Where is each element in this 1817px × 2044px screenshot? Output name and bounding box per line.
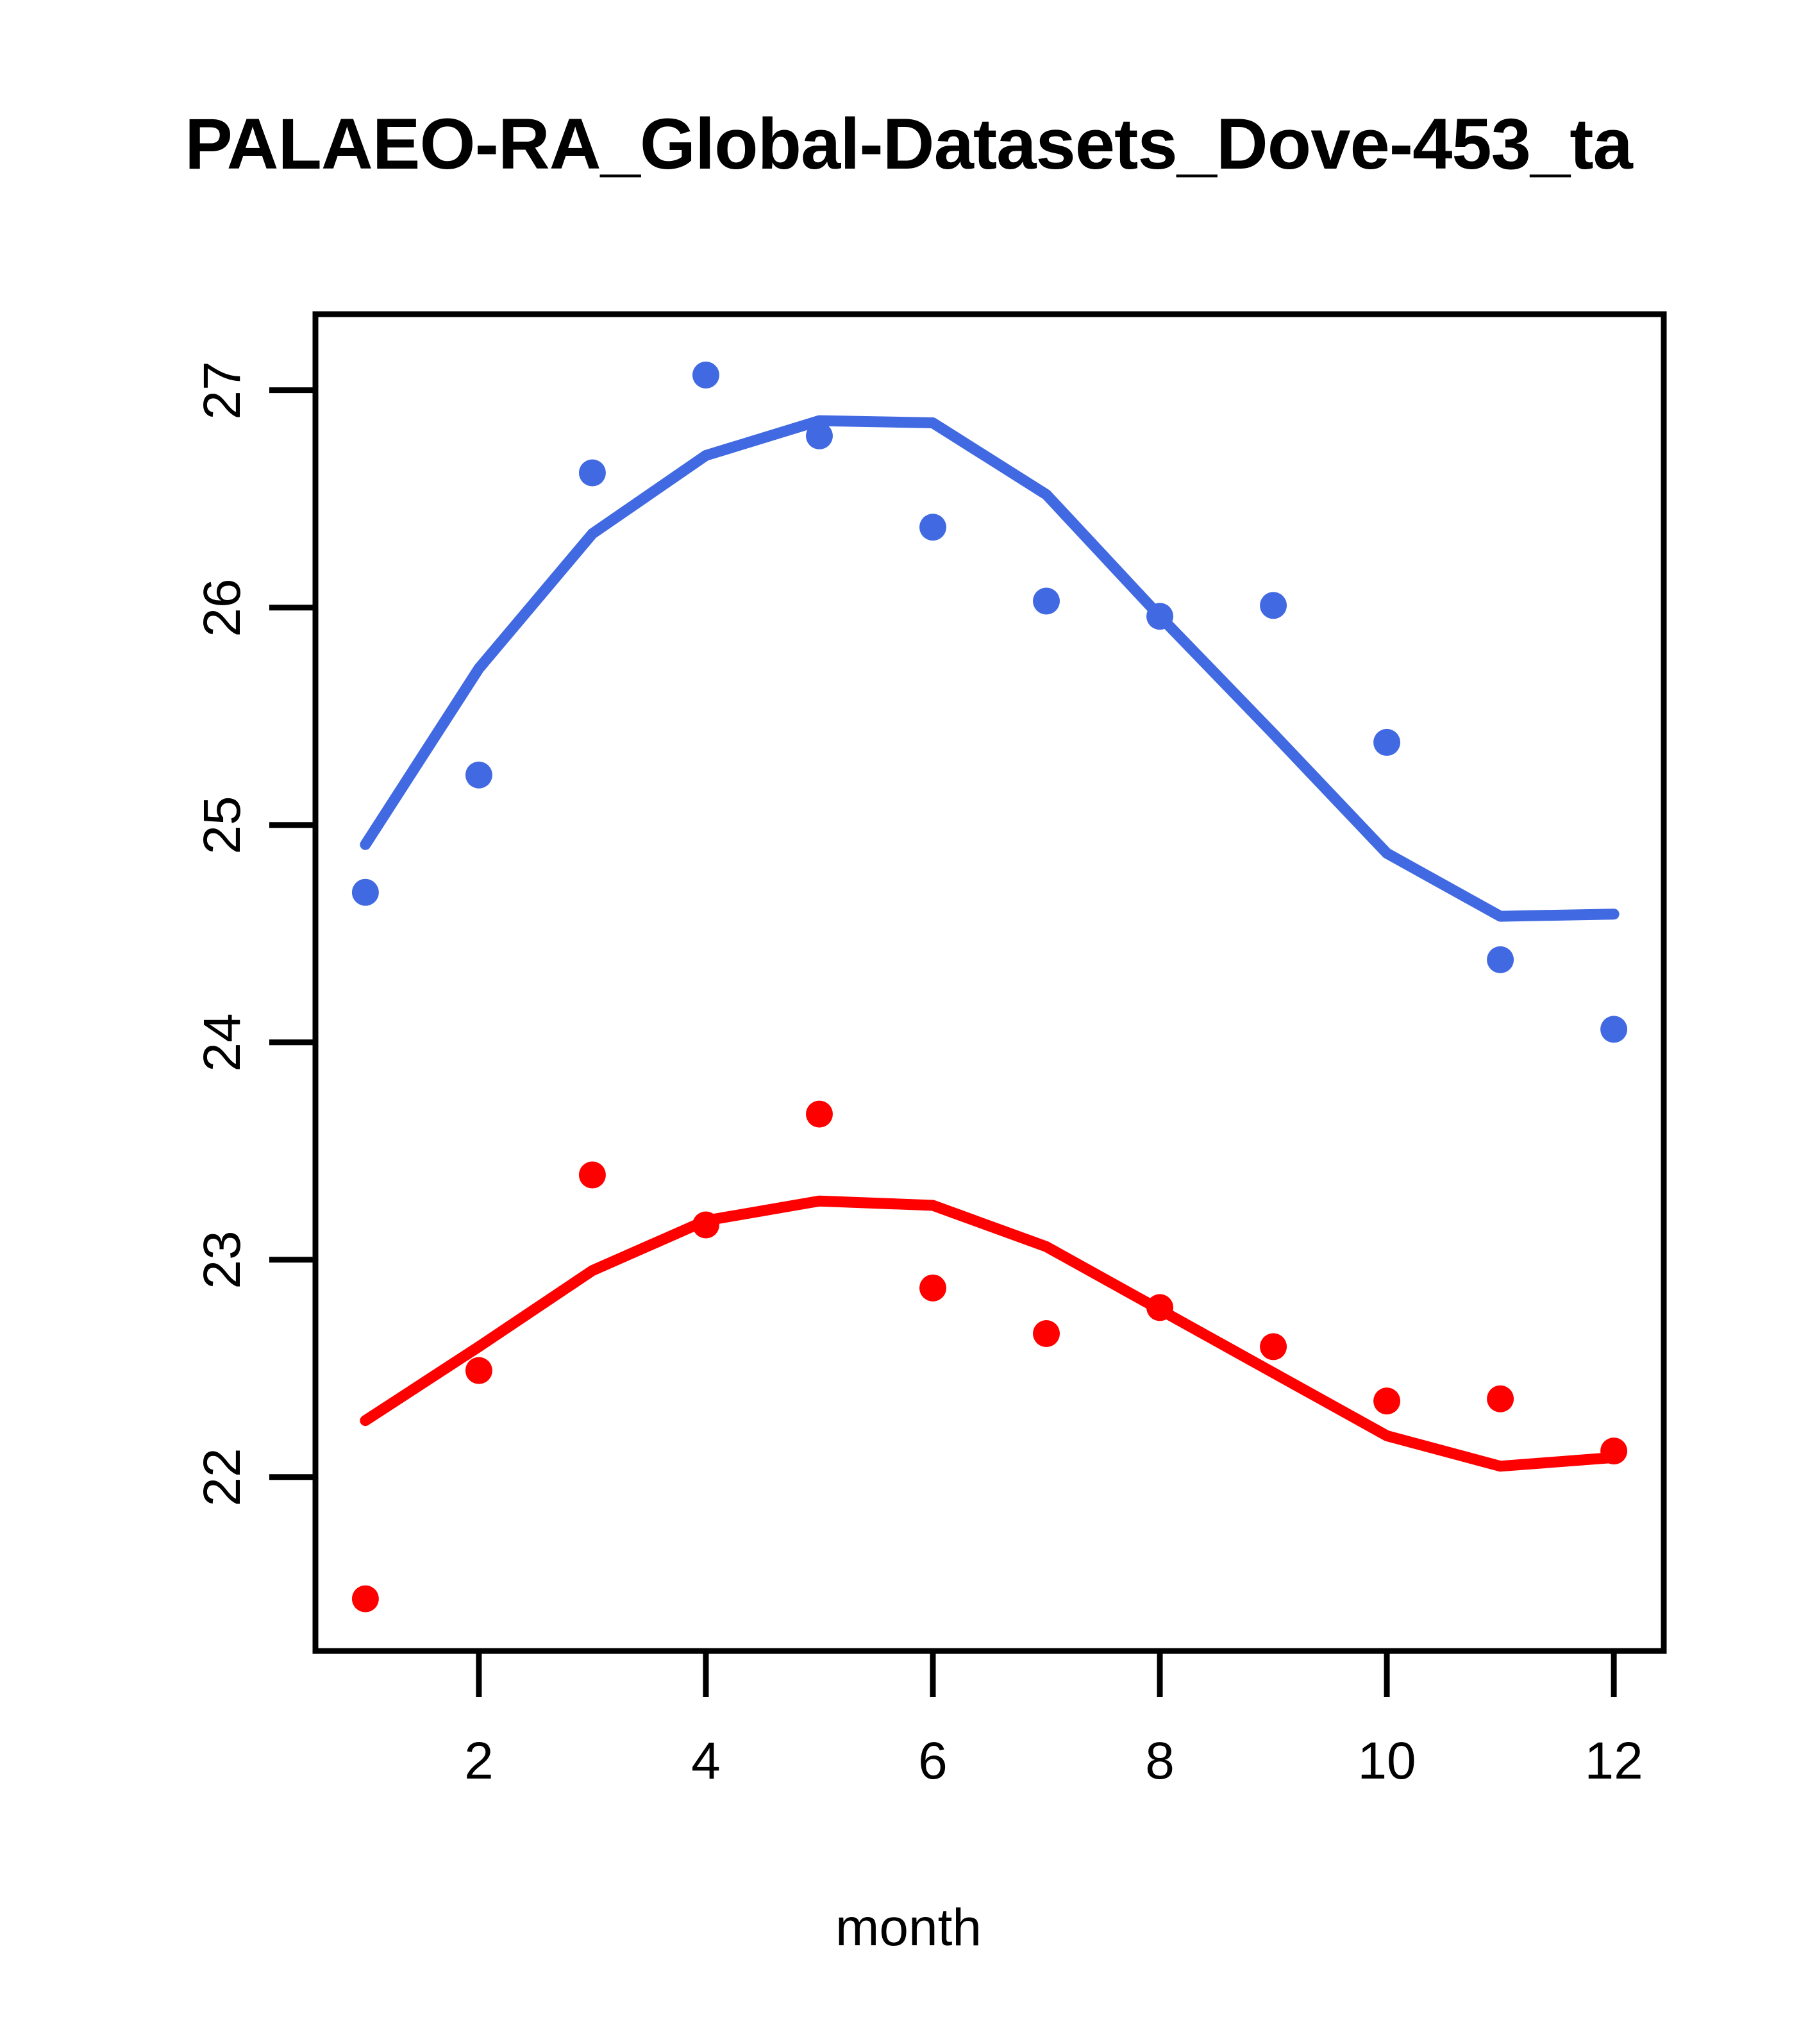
x-tick-label: 10 <box>1357 1731 1416 1791</box>
y-tick-label: 26 <box>192 578 253 637</box>
data-point <box>919 1275 946 1302</box>
data-point <box>1373 1387 1400 1414</box>
data-point <box>465 762 492 789</box>
data-point <box>1373 729 1400 756</box>
y-tick-label: 23 <box>192 1230 253 1289</box>
y-tick-label: 22 <box>192 1448 253 1506</box>
x-axis-label: month <box>0 1898 1817 1958</box>
data-point <box>1600 1016 1627 1043</box>
y-tick-label: 27 <box>192 361 253 419</box>
data-point <box>692 362 719 389</box>
series-points-red-points <box>352 1101 1627 1613</box>
x-tick-label: 4 <box>691 1731 721 1791</box>
series-line-blue-line <box>365 421 1614 916</box>
data-point <box>1487 946 1514 973</box>
data-point <box>1260 592 1287 619</box>
x-tick-label: 2 <box>464 1731 494 1791</box>
series-line-red-line <box>365 1201 1614 1466</box>
data-point <box>1487 1386 1514 1412</box>
data-point <box>919 514 946 540</box>
data-point <box>352 879 379 906</box>
data-point <box>806 1101 833 1128</box>
y-tick-label: 25 <box>192 796 253 854</box>
data-series-layer <box>352 362 1627 1613</box>
data-point <box>579 459 606 486</box>
x-tick-label: 12 <box>1585 1731 1643 1791</box>
data-point <box>352 1586 379 1613</box>
data-point <box>579 1162 606 1189</box>
data-point <box>1033 1320 1060 1347</box>
data-point <box>465 1357 492 1384</box>
x-tick-label: 8 <box>1145 1731 1175 1791</box>
x-axis-ticks <box>479 1651 1614 1697</box>
y-tick-label: 24 <box>192 1013 253 1071</box>
data-point <box>1033 588 1060 615</box>
y-axis-ticks <box>269 390 315 1477</box>
chart-canvas <box>0 0 1817 2044</box>
data-point <box>1260 1333 1287 1360</box>
plot-figure: PALAEO-RA_Global-Datasets_Dove-453_ta 22… <box>0 0 1817 2044</box>
x-tick-label: 6 <box>918 1731 948 1791</box>
